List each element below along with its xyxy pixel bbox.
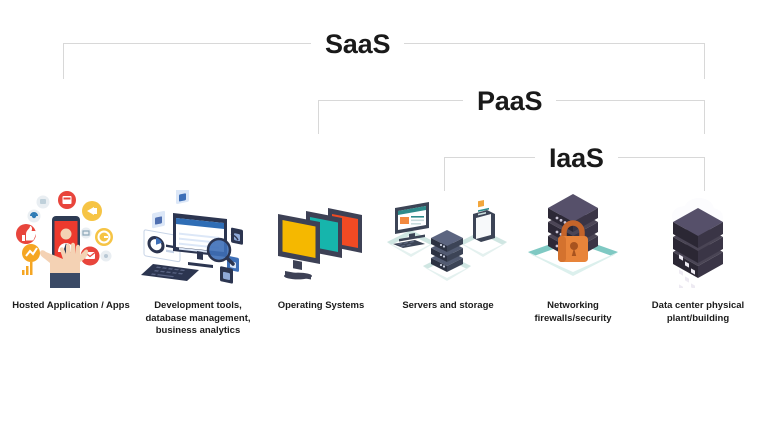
bracket-iaas: IaaS xyxy=(444,157,705,191)
column-label-data-center: Data center physical plant/building xyxy=(635,300,761,325)
slide-canvas: SaaS PaaS IaaS xyxy=(0,0,768,430)
column-operating-systems: Operating Systems xyxy=(258,190,384,350)
column-label-development-tools: Development tools, database management, … xyxy=(135,300,261,338)
column-label-operating-systems: Operating Systems xyxy=(258,300,384,313)
column-label-hosted-applications: Hosted Application / Apps xyxy=(8,300,134,313)
icon-column-row: Hosted Application / Apps xyxy=(0,190,768,350)
column-label-networking-security: Networking firewalls/security xyxy=(510,300,636,325)
bracket-label-saas: SaaS xyxy=(311,28,404,60)
column-data-center: Data center physical plant/building xyxy=(635,190,761,350)
column-hosted-applications: Hosted Application / Apps xyxy=(8,190,134,350)
bracket-paas: PaaS xyxy=(318,100,705,134)
bracket-label-paas: PaaS xyxy=(463,85,556,117)
server-rack-with-padlock-icon xyxy=(510,190,636,288)
isometric-desktop-monitor-keyboard-documents-icon xyxy=(135,190,261,288)
column-development-tools: Development tools, database management, … xyxy=(135,190,261,350)
bracket-saas: SaaS xyxy=(63,43,705,79)
isometric-desktop-server-phone-network-icon xyxy=(385,190,511,288)
column-networking-security: Networking firewalls/security xyxy=(510,190,636,350)
bracket-label-iaas: IaaS xyxy=(535,142,618,174)
server-rack-with-cloud-icon xyxy=(635,190,761,288)
column-label-servers-and-storage: Servers and storage xyxy=(385,300,511,313)
three-monitors-icon xyxy=(258,190,384,288)
column-servers-and-storage: Servers and storage xyxy=(385,190,511,350)
hand-holding-phone-with-app-bubbles-icon xyxy=(8,190,134,288)
